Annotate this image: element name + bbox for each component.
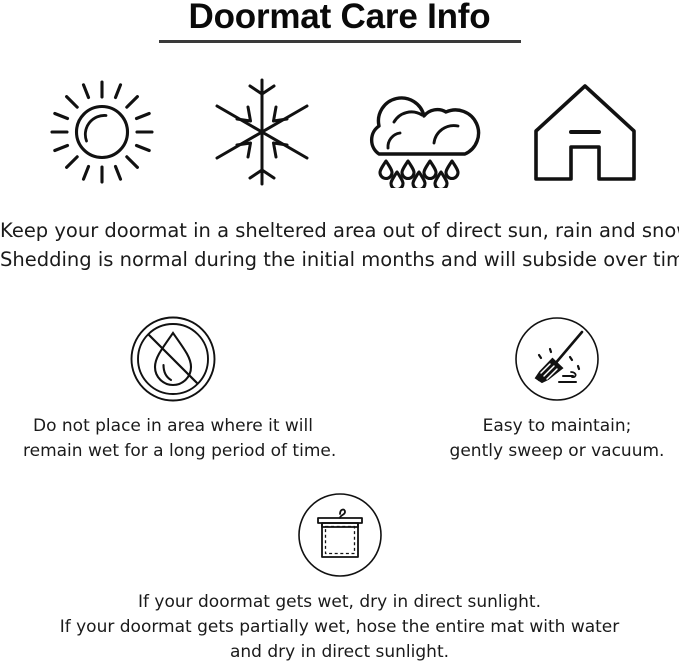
- tip-line-2: remain wet for a long period of time.: [23, 439, 323, 464]
- drying-instructions: If your doormat gets wet, dry in direct …: [0, 492, 679, 665]
- tips-row: Do not place in area where it will remai…: [0, 316, 679, 466]
- rain-cloud-icon: [357, 72, 487, 192]
- drying-caption: If your doormat gets wet, dry in direct …: [0, 590, 679, 665]
- tip-line-1: Easy to maintain;: [407, 414, 679, 439]
- title-underline-rule: [159, 40, 521, 43]
- house-icon: [520, 72, 650, 192]
- tip-line-1: Do not place in area where it will: [23, 414, 323, 439]
- no-water-icon: [130, 316, 216, 402]
- drying-line-1: If your doormat gets wet, dry in direct …: [0, 590, 679, 615]
- tip-caption-no-water: Do not place in area where it will remai…: [23, 414, 323, 464]
- drying-line-2: If your doormat gets partially wet, hose…: [0, 615, 679, 640]
- hanging-mat-dry-icon: [297, 492, 383, 578]
- page-header: Doormat Care Info: [0, 0, 679, 43]
- tip-line-2: gently sweep or vacuum.: [407, 439, 679, 464]
- intro-line-2: Shedding is normal during the initial mo…: [0, 245, 679, 274]
- tip-caption-maintain: Easy to maintain; gently sweep or vacuum…: [407, 414, 679, 464]
- snowflake-icon: [197, 72, 327, 192]
- drying-line-3: and dry in direct sunlight.: [0, 640, 679, 665]
- tip-easy-maintain: Easy to maintain; gently sweep or vacuum…: [407, 316, 679, 464]
- page-title: Doormat Care Info: [0, 0, 679, 36]
- intro-paragraph: Keep your doormat in a sheltered area ou…: [0, 216, 679, 274]
- tip-no-standing-water: Do not place in area where it will remai…: [23, 316, 323, 464]
- intro-line-1: Keep your doormat in a sheltered area ou…: [0, 216, 679, 245]
- sun-icon: [37, 72, 167, 192]
- weather-icon-row: [0, 72, 679, 192]
- broom-icon: [514, 316, 600, 402]
